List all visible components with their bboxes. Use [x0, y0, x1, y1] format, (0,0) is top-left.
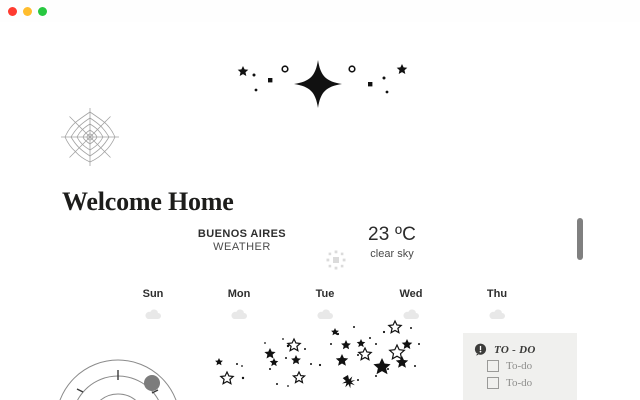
forecast-day[interactable]: Sun — [110, 288, 196, 323]
todo-header: TO - DO — [463, 333, 577, 356]
scrollbar-thumb[interactable] — [577, 218, 583, 260]
forecast-day-name: Mon — [196, 288, 282, 300]
vertical-scrollbar[interactable] — [577, 218, 583, 266]
close-button[interactable] — [8, 7, 17, 16]
forecast-day-name: Wed — [368, 288, 454, 300]
weather-description: clear sky — [332, 248, 452, 260]
cloud-icon — [144, 307, 162, 323]
weather-temperature: 23 ºC — [332, 224, 452, 246]
app-window: Welcome Home BUENOS AIRES WEATHER — [0, 0, 640, 400]
forecast-day-name: Thu — [454, 288, 540, 300]
weather-label: WEATHER — [162, 241, 322, 254]
spider-web-icon — [59, 106, 121, 168]
star-field-icon — [198, 314, 428, 400]
forecast-day[interactable]: Thu — [454, 288, 540, 323]
orbit-gauge-icon — [48, 344, 188, 400]
minimize-button[interactable] — [23, 7, 32, 16]
forecast-day-name: Tue — [282, 288, 368, 300]
todo-checkbox[interactable] — [487, 360, 499, 372]
todo-widget: TO - DO To-do To-do — [463, 333, 577, 400]
weather-widget: BUENOS AIRES WEATHER — [110, 228, 540, 324]
page-canvas: Welcome Home BUENOS AIRES WEATHER — [0, 22, 640, 400]
sparkle-cluster-icon — [232, 56, 416, 108]
weather-header: BUENOS AIRES WEATHER — [162, 228, 322, 254]
todo-checkbox[interactable] — [487, 377, 499, 389]
forecast-day-name: Sun — [110, 288, 196, 300]
todo-list: To-do To-do — [463, 356, 577, 389]
weather-city: BUENOS AIRES — [162, 228, 322, 241]
window-title-bar — [0, 0, 640, 22]
maximize-button[interactable] — [38, 7, 47, 16]
page-title: Welcome Home — [62, 187, 234, 217]
weather-current: 23 ºC clear sky — [332, 224, 452, 260]
todo-title: TO - DO — [494, 344, 536, 356]
list-item[interactable]: To-do — [487, 377, 577, 389]
window-controls — [8, 7, 47, 16]
exclamation-bubble-icon — [474, 343, 487, 356]
cloud-icon — [488, 307, 506, 323]
todo-item-label: To-do — [506, 360, 532, 372]
list-item[interactable]: To-do — [487, 360, 577, 372]
todo-item-label: To-do — [506, 377, 532, 389]
